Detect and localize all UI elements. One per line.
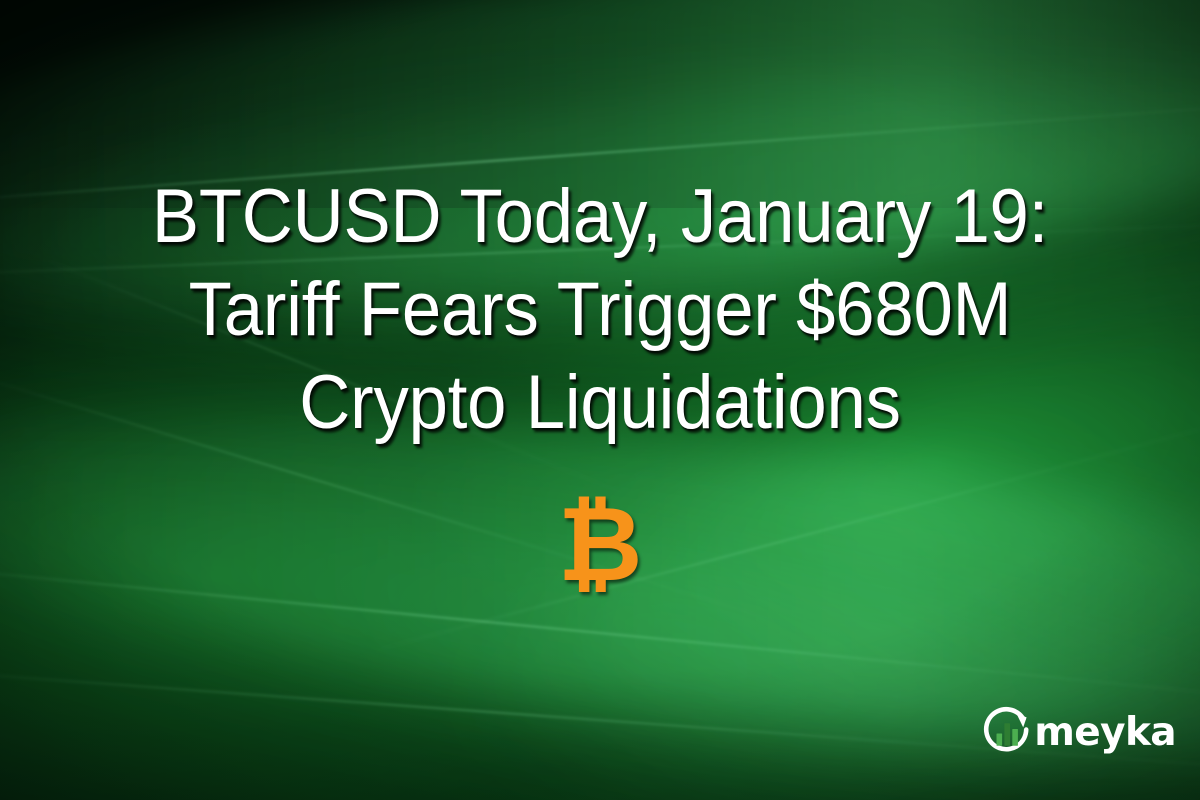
headline-line-1: BTCUSD Today, January 19: xyxy=(79,170,1121,263)
meyka-circle-barchart-icon xyxy=(982,706,1034,758)
banner-canvas: BTCUSD Today, January 19: Tariff Fears T… xyxy=(0,0,1200,800)
headline-line-3: Crypto Liquidations xyxy=(79,356,1121,449)
meyka-wordmark: meyka xyxy=(1034,713,1176,752)
bitcoin-symbol: ₿ xyxy=(0,492,1200,596)
meyka-logo[interactable]: meyka xyxy=(982,706,1176,758)
headline-line-2: Tariff Fears Trigger $680M xyxy=(79,263,1121,356)
headline: BTCUSD Today, January 19: Tariff Fears T… xyxy=(0,170,1200,449)
